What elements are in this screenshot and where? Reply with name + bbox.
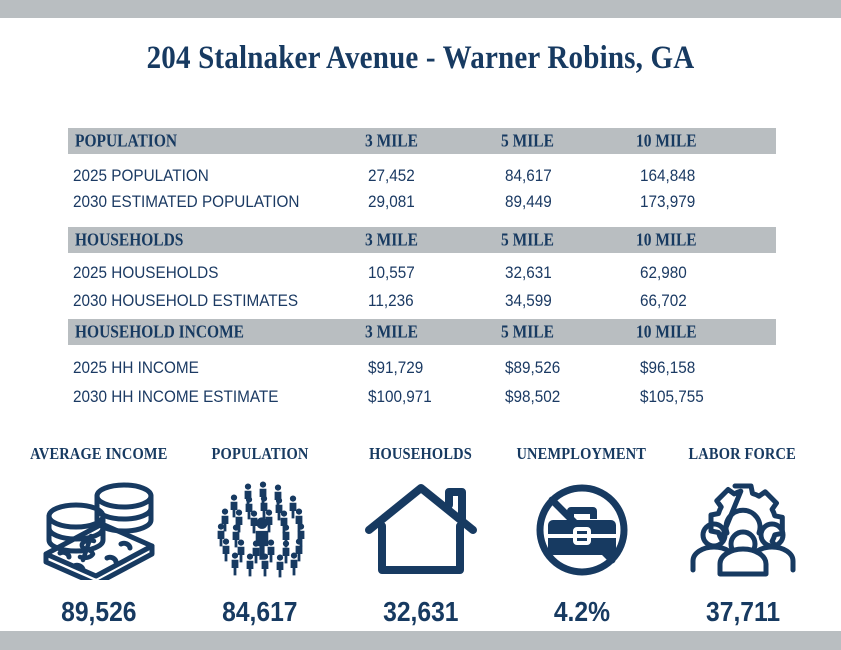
column-header-10-mile: 10 MILE (636, 322, 697, 343)
cell-10-mile: 62,980 (640, 263, 687, 283)
people-gear-icon (683, 478, 803, 582)
cell-5-mile: 32,631 (505, 263, 552, 283)
table-row: 2025 HH INCOME $91,729 $89,526 $96,158 (68, 353, 776, 382)
cell-3-mile: 27,452 (368, 166, 415, 186)
money-coins-icon (36, 478, 162, 582)
cell-3-mile: 11,236 (368, 291, 414, 311)
cell-10-mile: $105,755 (640, 387, 704, 407)
cell-5-mile: 34,599 (505, 291, 552, 311)
column-header-3-mile: 3 MILE (365, 230, 418, 251)
column-header-10-mile: 10 MILE (636, 131, 697, 152)
cell-10-mile: 66,702 (640, 291, 687, 311)
summary-stats-strip: AVERAGE INCOME (18, 444, 823, 628)
table-header-row: HOUSEHOLD INCOME 3 MILE 5 MILE 10 MILE (68, 319, 776, 345)
bottom-accent-bar (0, 631, 841, 650)
stat-label: UNEMPLOYMENT (517, 444, 647, 464)
table-row: 2030 HH INCOME ESTIMATE $100,971 $98,502… (68, 382, 776, 411)
row-label: 2030 HH INCOME ESTIMATE (73, 387, 278, 407)
table-row: 2025 POPULATION 27,452 84,617 164,848 (68, 163, 776, 189)
column-header-3-mile: 3 MILE (365, 131, 418, 152)
cell-3-mile: 29,081 (368, 192, 415, 212)
cell-10-mile: 173,979 (640, 192, 695, 212)
cell-10-mile: 164,848 (640, 166, 695, 186)
cell-3-mile: $100,971 (368, 387, 432, 407)
top-accent-bar (0, 0, 841, 18)
table-population: POPULATION 3 MILE 5 MILE 10 MILE 2025 PO… (68, 128, 776, 215)
column-header-5-mile: 5 MILE (501, 131, 554, 152)
stat-label: AVERAGE INCOME (30, 444, 167, 464)
people-crowd-icon (205, 478, 315, 582)
stat-unemployment: UNEMPLOYMENT 4.2% (501, 444, 662, 628)
stat-label: HOUSEHOLDS (369, 444, 472, 464)
table-category-label: POPULATION (75, 131, 177, 152)
table-category-label: HOUSEHOLD INCOME (75, 322, 244, 343)
table-category-label: HOUSEHOLDS (75, 230, 183, 251)
column-header-5-mile: 5 MILE (501, 230, 554, 251)
row-label: 2030 ESTIMATED POPULATION (73, 192, 299, 212)
stat-labor-force: LABOR FORCE 37,711 (662, 444, 823, 628)
cell-5-mile: 89,449 (505, 192, 552, 212)
cell-5-mile: $89,526 (505, 358, 560, 378)
column-header-5-mile: 5 MILE (501, 322, 554, 343)
column-header-10-mile: 10 MILE (636, 230, 697, 251)
stat-label: LABOR FORCE (689, 444, 796, 464)
house-icon (363, 478, 479, 582)
table-households: HOUSEHOLDS 3 MILE 5 MILE 10 MILE 2025 HO… (68, 227, 776, 315)
table-header-row: HOUSEHOLDS 3 MILE 5 MILE 10 MILE (68, 227, 776, 253)
stat-label: POPULATION (212, 444, 309, 464)
row-label: 2030 HOUSEHOLD ESTIMATES (73, 291, 298, 311)
table-header-row: POPULATION 3 MILE 5 MILE 10 MILE (68, 128, 776, 154)
cell-10-mile: $96,158 (640, 358, 695, 378)
cell-5-mile: $98,502 (505, 387, 560, 407)
no-briefcase-icon (529, 478, 635, 582)
column-header-3-mile: 3 MILE (365, 322, 418, 343)
stat-population: POPULATION (180, 444, 341, 628)
row-label: 2025 POPULATION (73, 166, 209, 186)
row-label: 2025 HOUSEHOLDS (73, 263, 218, 283)
stat-value: 84,617 (222, 596, 297, 628)
stat-households: HOUSEHOLDS 32,631 (341, 444, 502, 628)
stat-value: 32,631 (383, 596, 458, 628)
cell-3-mile: $91,729 (368, 358, 423, 378)
page-title: 204 Stalnaker Avenue - Warner Robins, GA (50, 40, 790, 77)
table-household-income: HOUSEHOLD INCOME 3 MILE 5 MILE 10 MILE 2… (68, 319, 776, 411)
stat-value: 4.2% (554, 596, 610, 628)
row-label: 2025 HH INCOME (73, 358, 199, 378)
stat-value: 89,526 (61, 596, 136, 628)
cell-3-mile: 10,557 (368, 263, 415, 283)
table-row: 2030 HOUSEHOLD ESTIMATES 11,236 34,599 6… (68, 287, 776, 315)
stat-value: 37,711 (706, 596, 780, 628)
table-row: 2030 ESTIMATED POPULATION 29,081 89,449 … (68, 189, 776, 215)
table-row: 2025 HOUSEHOLDS 10,557 32,631 62,980 (68, 259, 776, 287)
cell-5-mile: 84,617 (505, 166, 552, 186)
stat-average-income: AVERAGE INCOME (18, 444, 180, 628)
